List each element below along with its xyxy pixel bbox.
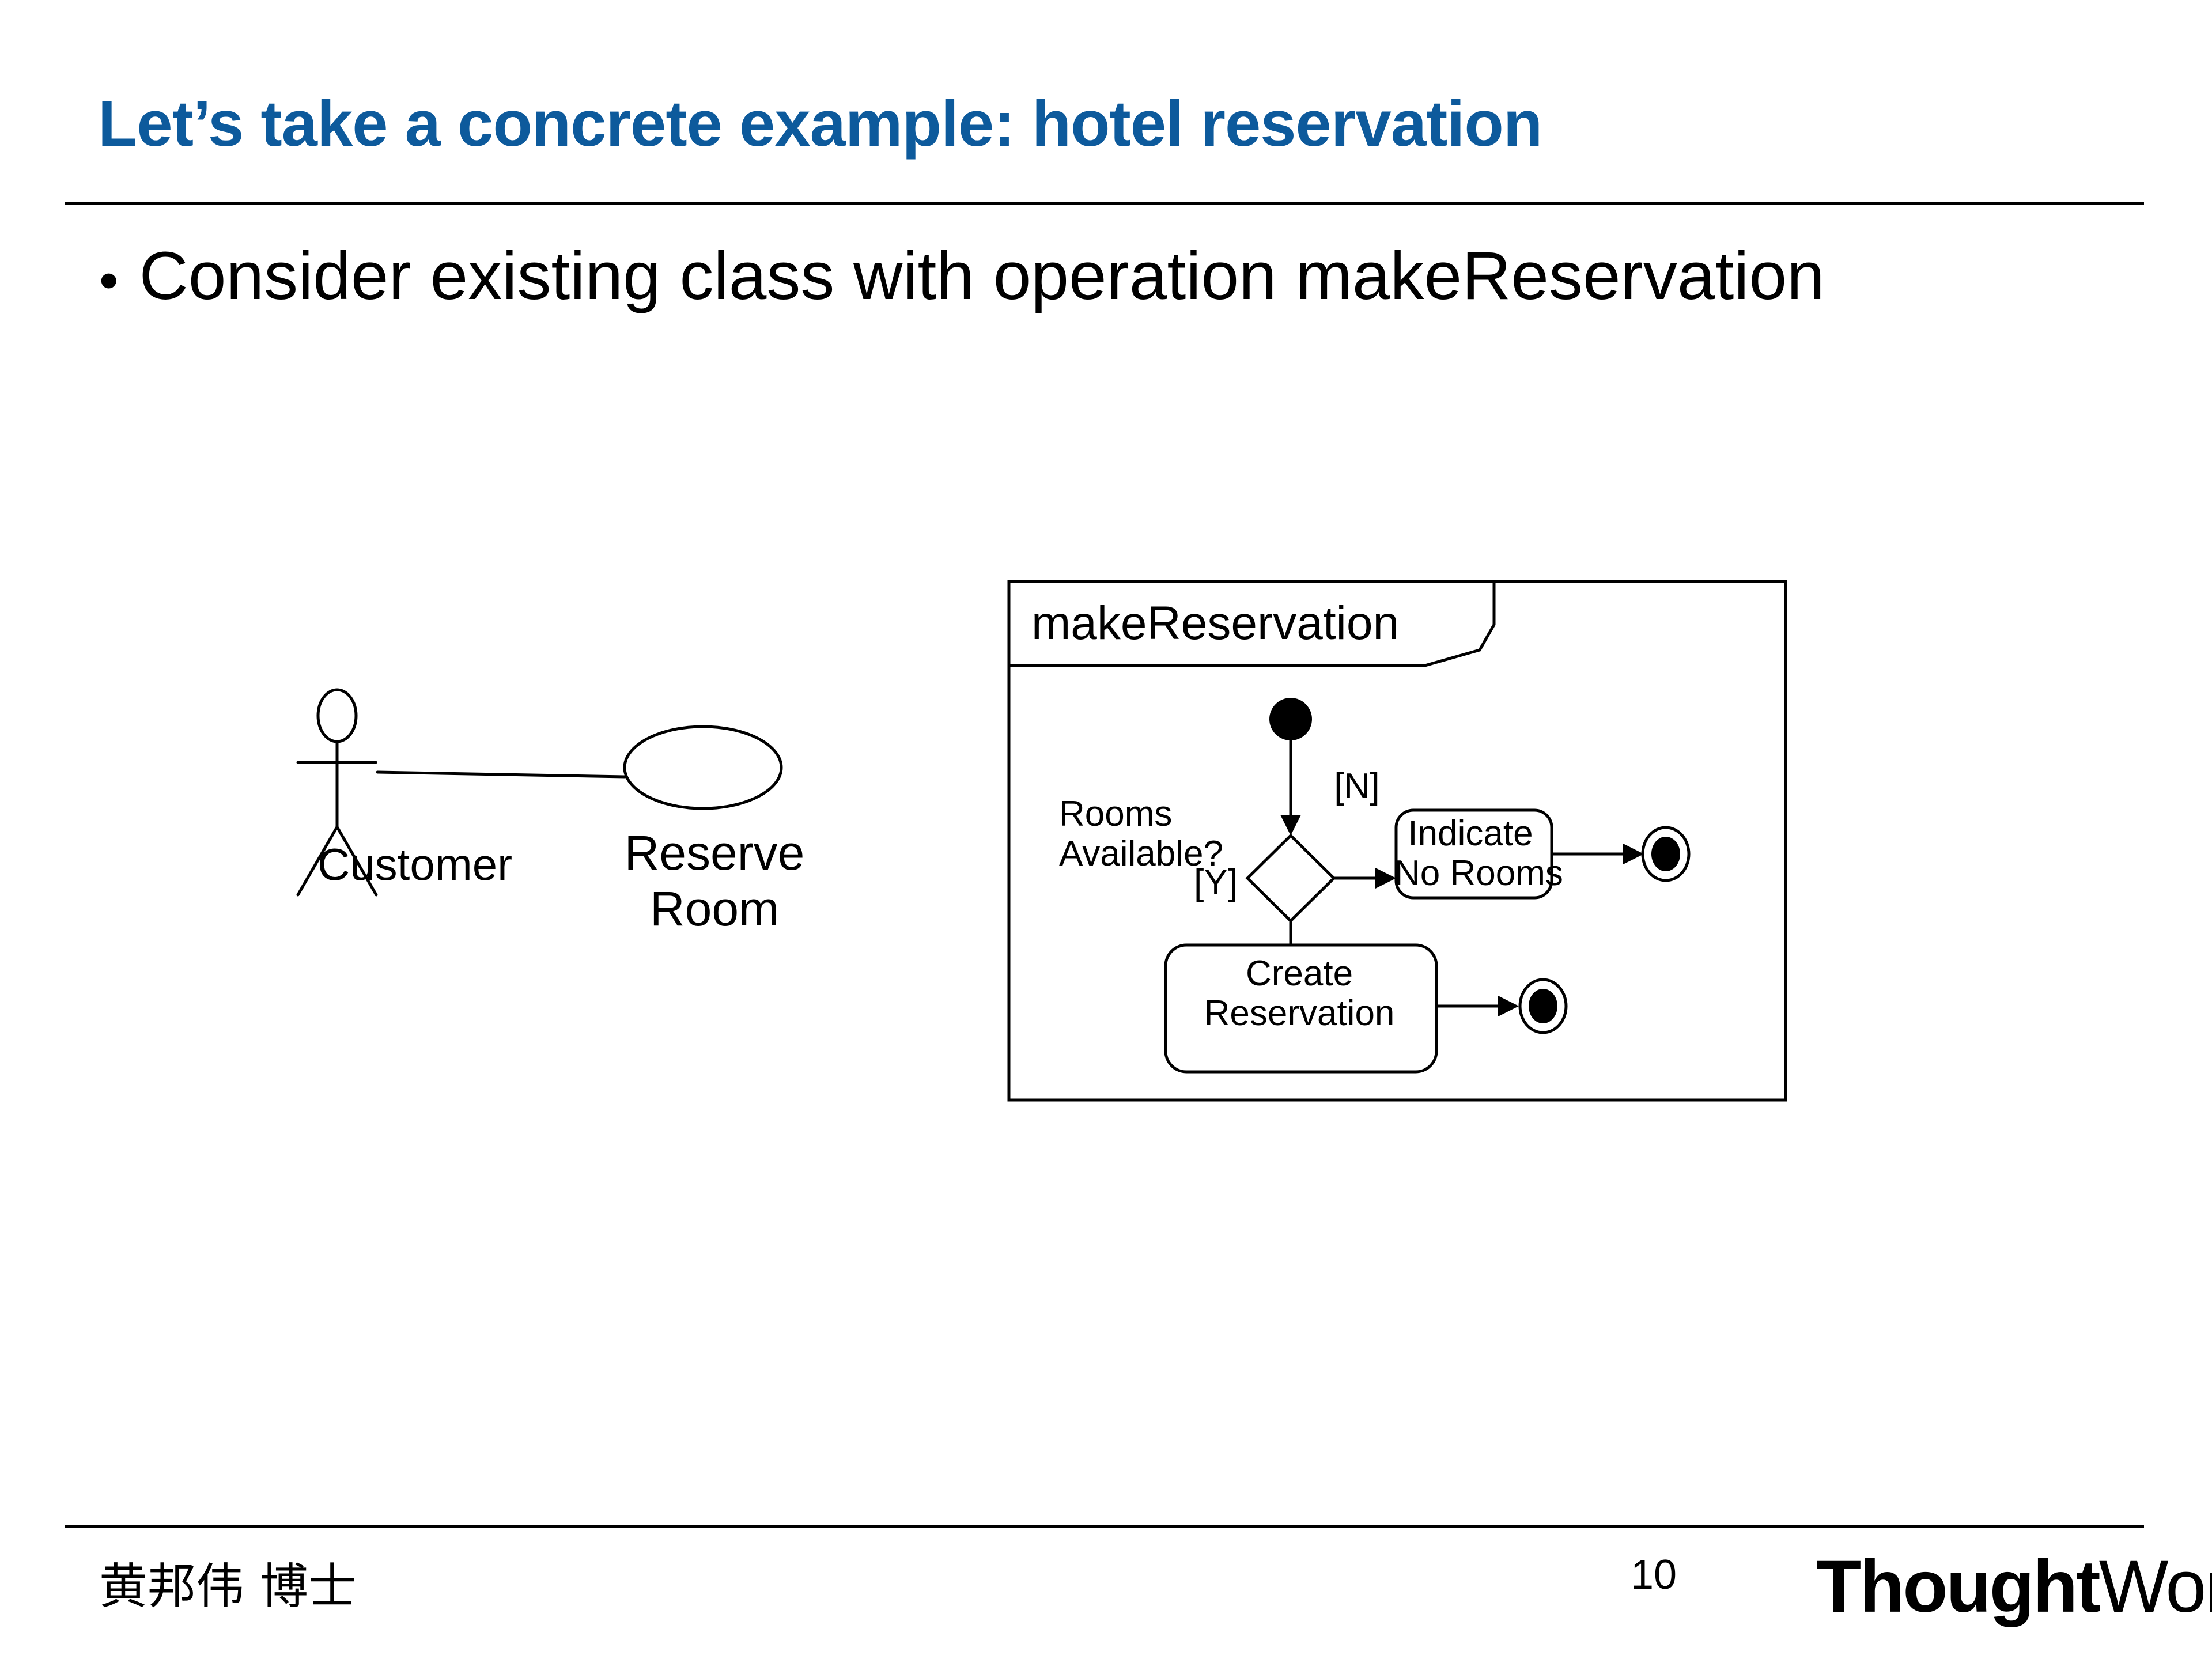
guard-no-label: [N] bbox=[1325, 766, 1389, 806]
page-number: 10 bbox=[1608, 1551, 1700, 1598]
decision-label-line1: Rooms bbox=[1059, 794, 1172, 834]
action-indicate-line2: No Rooms bbox=[1394, 853, 1563, 893]
decision-node bbox=[1247, 836, 1334, 921]
actor-label: Customer bbox=[311, 838, 519, 891]
bullet-text: Consider existing class with operation m… bbox=[139, 241, 1825, 312]
action-create-line2: Reservation bbox=[1204, 993, 1395, 1033]
actor-head-icon bbox=[318, 690, 356, 742]
arrowhead-initial-to-decision bbox=[1280, 815, 1301, 836]
action-create-line1: Create bbox=[1246, 954, 1353, 993]
bullet-list-item: • Consider existing class with operation… bbox=[99, 241, 1885, 312]
thoughtworks-logo: ThoughtWorks® bbox=[1816, 1550, 2212, 1624]
final-node-inner-2 bbox=[1529, 989, 1557, 1023]
bullet-marker-icon: • bbox=[99, 253, 119, 308]
footer-divider bbox=[65, 1525, 2144, 1528]
usecase-label: Reserve Room bbox=[553, 825, 876, 937]
header-divider bbox=[65, 202, 2144, 205]
usecase-ellipse bbox=[625, 727, 781, 808]
final-node-inner-1 bbox=[1651, 837, 1680, 871]
action-indicate-line1: Indicate bbox=[1408, 814, 1533, 853]
arrowhead-indicate-to-final bbox=[1623, 844, 1644, 864]
guard-yes-label: [Y] bbox=[1184, 863, 1247, 902]
activity-frame-title: makeReservation bbox=[1031, 596, 1399, 651]
association-line bbox=[377, 772, 625, 777]
arrowhead-create-to-final bbox=[1498, 996, 1519, 1016]
logo-thought-text: Thought bbox=[1816, 1545, 2099, 1628]
initial-node-icon bbox=[1269, 698, 1312, 740]
action-create-label: Create Reservation bbox=[1170, 954, 1429, 1034]
logo-works-text: Works bbox=[2099, 1545, 2212, 1628]
arrowhead-decision-to-indicate bbox=[1375, 868, 1396, 889]
action-indicate-label: Indicate No Rooms bbox=[1394, 814, 1546, 894]
page-title: Let’s take a concrete example: hotel res… bbox=[98, 86, 1827, 161]
footer-author: 黄邦伟 博士 bbox=[99, 1548, 357, 1618]
slide-canvas: Let’s take a concrete example: hotel res… bbox=[0, 0, 2212, 1659]
